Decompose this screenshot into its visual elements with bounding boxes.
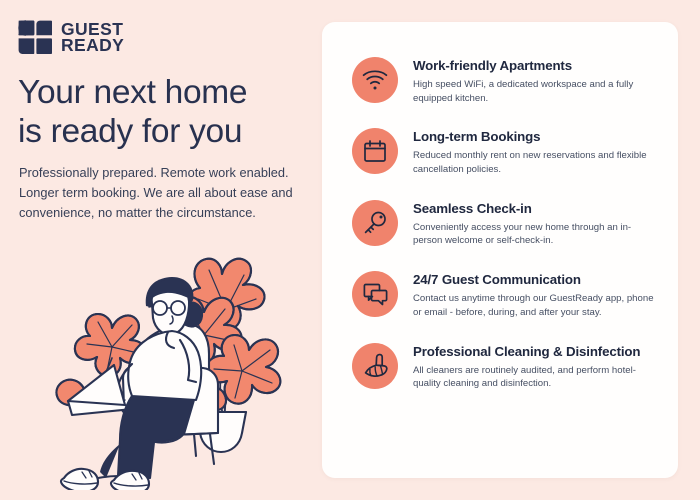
feature-body: Professional Cleaning & Disinfection All… <box>413 341 656 391</box>
page-title: Your next home is ready for you <box>18 74 308 152</box>
feature-title: Seamless Check-in <box>413 201 656 217</box>
key-icon <box>363 211 387 235</box>
calendar-icon <box>363 139 387 163</box>
broom-icon-badge <box>352 343 398 389</box>
hero-column: GUEST READY Your next home is ready for … <box>0 0 320 500</box>
chat-bubbles-icon-badge <box>352 271 398 317</box>
feature-body: Work-friendly Apartments High speed WiFi… <box>413 55 656 105</box>
promo-page: GUEST READY Your next home is ready for … <box>0 0 700 500</box>
feature-title: Professional Cleaning & Disinfection <box>413 344 656 360</box>
broom-icon <box>363 353 388 378</box>
feature-title: Work-friendly Apartments <box>413 58 656 74</box>
feature-description: High speed WiFi, a dedicated workspace a… <box>413 78 656 105</box>
key-icon-badge <box>352 200 398 246</box>
feature-description: Conveniently access your new home throug… <box>413 221 656 248</box>
chat-bubbles-icon <box>363 283 388 306</box>
feature-description: Contact us anytime through our GuestRead… <box>413 292 656 319</box>
feature-body: 24/7 Guest Communication Contact us anyt… <box>413 269 656 319</box>
feature-item-guest-communication[interactable]: 24/7 Guest Communication Contact us anyt… <box>352 269 670 319</box>
feature-body: Long-term Bookings Reduced monthly rent … <box>413 126 656 176</box>
guestready-quadrant-logo-icon <box>18 20 52 54</box>
feature-description: Reduced monthly rent on new reservations… <box>413 149 656 176</box>
feature-item-long-term-bookings[interactable]: Long-term Bookings Reduced monthly rent … <box>352 126 670 176</box>
brand-name-line2: READY <box>61 37 124 53</box>
brand-logo[interactable]: GUEST READY <box>18 20 124 54</box>
feature-title: Long-term Bookings <box>413 129 656 145</box>
feature-body: Seamless Check-in Conveniently access yo… <box>413 198 656 248</box>
features-card: Work-friendly Apartments High speed WiFi… <box>322 22 678 478</box>
hero-subtitle: Professionally prepared. Remote work ena… <box>19 163 294 222</box>
calendar-icon-badge <box>352 128 398 174</box>
wifi-icon <box>362 69 388 91</box>
feature-list: Work-friendly Apartments High speed WiFi… <box>352 55 670 391</box>
wifi-icon-badge <box>352 57 398 103</box>
feature-title: 24/7 Guest Communication <box>413 272 656 288</box>
feature-description: All cleaners are routinely audited, and … <box>413 364 656 391</box>
feature-item-professional-cleaning[interactable]: Professional Cleaning & Disinfection All… <box>352 341 670 391</box>
feature-item-work-friendly-apartments[interactable]: Work-friendly Apartments High speed WiFi… <box>352 55 670 105</box>
hero-illustration <box>28 228 314 490</box>
feature-item-seamless-check-in[interactable]: Seamless Check-in Conveniently access yo… <box>352 198 670 248</box>
